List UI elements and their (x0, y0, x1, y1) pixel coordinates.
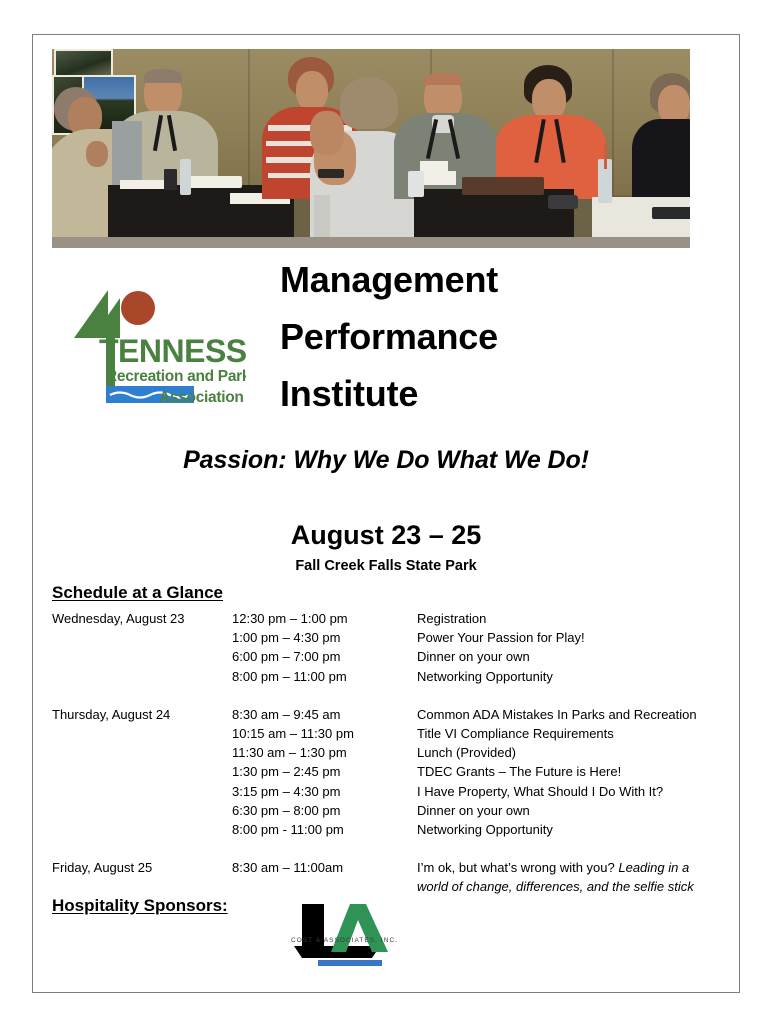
logo-wordmark: TENNESSEE (99, 333, 246, 369)
photo-glass (408, 171, 424, 197)
sponsor-logo-underline (318, 960, 382, 966)
tagline: Passion: Why We Do What We Do! (32, 446, 740, 475)
photo-bottle (180, 159, 191, 195)
schedule-time: 8:00 pm - 11:00 pm (232, 820, 417, 839)
sponsor-logo-text: COST & ASSOCIATES, INC. (291, 937, 398, 944)
photo-device (548, 195, 578, 209)
schedule-time: 10:15 am – 11:30 pm (232, 724, 417, 743)
schedule-day-group: Thursday, August 248:30 am – 9:45 amComm… (52, 705, 712, 839)
schedule-day-label: Wednesday, August 23 (52, 609, 232, 628)
cost-and-associates-inc-logo: COST & ASSOCIATES, INC. (288, 900, 413, 968)
event-dates: August 23 – 25 (32, 520, 740, 551)
schedule-time: 1:00 pm – 4:30 pm (232, 628, 417, 647)
schedule-row: 1:00 pm – 4:30 pmPower Your Passion for … (52, 628, 712, 647)
schedule-time: 6:00 pm – 7:00 pm (232, 647, 417, 666)
schedule-time: 11:30 am – 1:30 pm (232, 743, 417, 762)
schedule-time: 8:30 am – 11:00am (232, 858, 417, 877)
schedule-time: 3:15 pm – 4:30 pm (232, 782, 417, 801)
page-title: Management Performance Institute (280, 252, 700, 423)
schedule-row: 1:30 pm – 2:45 pmTDEC Grants – The Futur… (52, 762, 712, 781)
photo-wall-seam (612, 49, 614, 199)
schedule-row: Wednesday, August 2312:30 pm – 1:00 pmRe… (52, 609, 712, 628)
schedule-session-title: Registration (417, 609, 712, 628)
sponsor-logo-letter-a (331, 904, 388, 952)
schedule-row: Thursday, August 248:30 am – 9:45 amComm… (52, 705, 712, 724)
schedule-day-group: Friday, August 258:30 am – 11:00amI’m ok… (52, 858, 712, 896)
svg-text:TENNESSEE: TENNESSEE (99, 333, 246, 369)
schedule-heading: Schedule at a Glance (52, 583, 223, 603)
schedule-session-title: Dinner on your own (417, 647, 712, 666)
photo-person-hand (310, 111, 344, 155)
photo-person-hand (86, 141, 108, 167)
photo-floor-strip (52, 237, 690, 248)
photo-paper (424, 171, 456, 185)
schedule-day-label: Friday, August 25 (52, 858, 232, 877)
schedule-row: 6:00 pm – 7:00 pmDinner on your own (52, 647, 712, 666)
photo-person-hair (340, 77, 398, 129)
schedule-session-title: Networking Opportunity (417, 667, 712, 686)
schedule-time: 8:00 pm – 11:00 pm (232, 667, 417, 686)
schedule-session-title: I’m ok, but what’s wrong with you? Leadi… (417, 858, 712, 896)
schedule-session-title: Dinner on your own (417, 801, 712, 820)
logo-sun-icon (121, 291, 155, 325)
schedule-session-title: Common ADA Mistakes In Parks and Recreat… (417, 705, 712, 724)
page-title-line-1: Management (280, 252, 700, 309)
schedule-day-group: Wednesday, August 2312:30 pm – 1:00 pmRe… (52, 609, 712, 686)
schedule-row: 11:30 am – 1:30 pmLunch (Provided) (52, 743, 712, 762)
schedule-row: Friday, August 258:30 am – 11:00amI’m ok… (52, 858, 712, 896)
photo-straw (604, 145, 607, 169)
schedule-session-title: Lunch (Provided) (417, 743, 712, 762)
sponsors-heading: Hospitality Sponsors: (52, 896, 228, 916)
schedule-session-title: TDEC Grants – The Future is Here! (417, 762, 712, 781)
schedule-time: 12:30 pm – 1:00 pm (232, 609, 417, 628)
photo-watch (318, 169, 344, 178)
photo-person-body (632, 119, 690, 205)
photo-person-face (296, 71, 328, 111)
page-title-line-3: Institute (280, 366, 700, 423)
schedule-row: 3:15 pm – 4:30 pmI Have Property, What S… (52, 782, 712, 801)
event-location: Fall Creek Falls State Park (32, 558, 740, 574)
photo-device (652, 207, 690, 219)
schedule-row: 6:30 pm – 8:00 pmDinner on your own (52, 801, 712, 820)
schedule-session-title: I Have Property, What Should I Do With I… (417, 782, 712, 801)
schedule-table: Wednesday, August 2312:30 pm – 1:00 pmRe… (52, 609, 712, 897)
schedule-time: 8:30 am – 9:45 am (232, 705, 417, 724)
photo-wall-frame (54, 49, 113, 77)
svg-text:Association: Association (159, 389, 244, 406)
page-sheet: TENNESSEE Recreation and Parks Associati… (0, 0, 770, 1024)
schedule-session-title: Power Your Passion for Play! (417, 628, 712, 647)
schedule-session-title: Title VI Compliance Requirements (417, 724, 712, 743)
schedule-session-subtitle: Leading in a world of change, difference… (417, 860, 694, 894)
photo-paper (184, 176, 242, 188)
photo-person-hair (424, 73, 462, 85)
schedule-time: 1:30 pm – 2:45 pm (232, 762, 417, 781)
schedule-day-label: Thursday, August 24 (52, 705, 232, 724)
page-title-line-2: Performance (280, 309, 700, 366)
photo-wall-seam (248, 49, 250, 199)
svg-text:Recreation and Parks: Recreation and Parks (106, 368, 246, 385)
tennessee-recreation-and-parks-association-logo: TENNESSEE Recreation and Parks Associati… (62, 286, 246, 409)
photo-person-hair (144, 69, 182, 83)
photo-cup (164, 169, 177, 190)
schedule-time: 6:30 pm – 8:00 pm (232, 801, 417, 820)
schedule-session-title: Networking Opportunity (417, 820, 712, 839)
schedule-row: 8:00 pm – 11:00 pmNetworking Opportunity (52, 667, 712, 686)
hero-photo (52, 49, 690, 248)
schedule-row: 10:15 am – 11:30 pmTitle VI Compliance R… (52, 724, 712, 743)
schedule-row: 8:00 pm - 11:00 pmNetworking Opportunity (52, 820, 712, 839)
photo-folder (462, 177, 544, 195)
